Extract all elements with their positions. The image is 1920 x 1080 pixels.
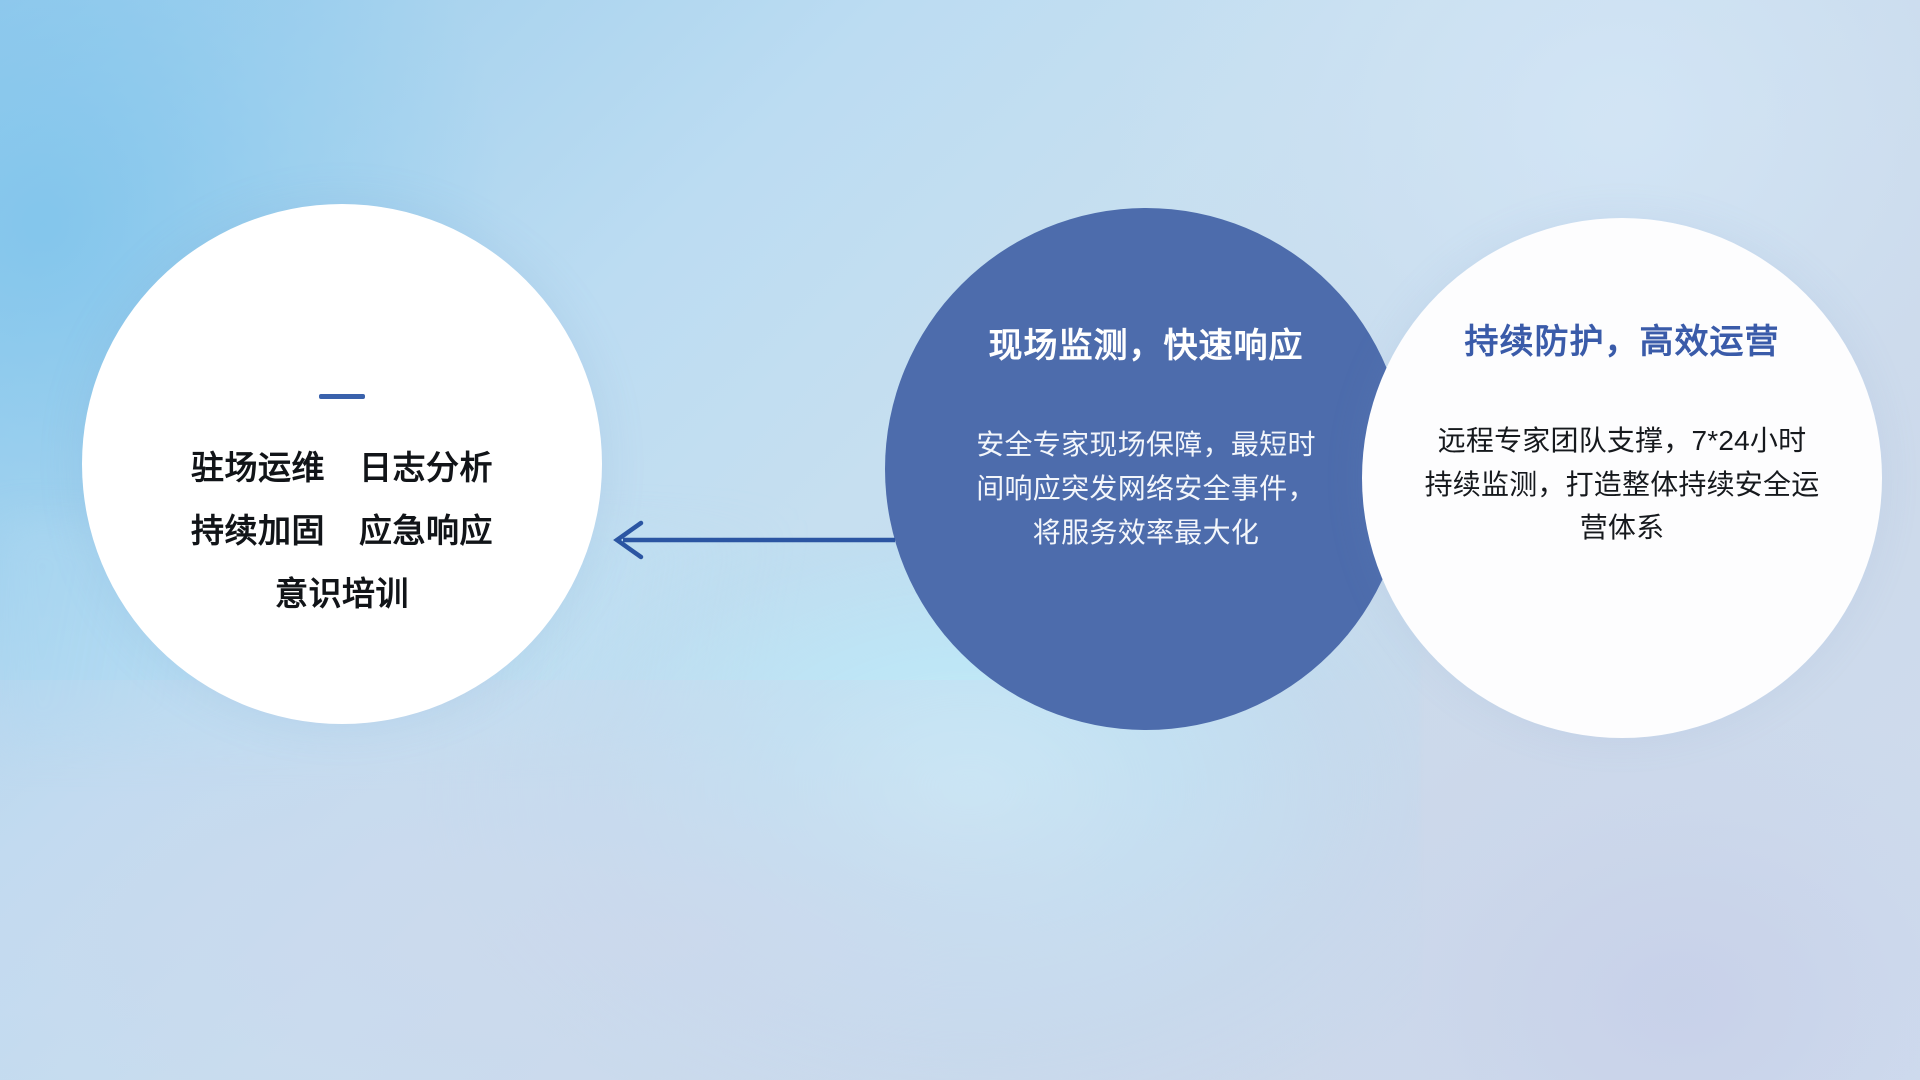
capability-keyword-row: 驻场运维 日志分析 (191, 451, 493, 484)
capability-keyword: 日志分析 (359, 451, 493, 484)
capability-keyword-row: 持续加固 应急响应 (191, 514, 493, 547)
onsite-monitoring-title: 现场监测，快速响应 (989, 318, 1304, 367)
divider-dash (319, 394, 365, 399)
capability-keyword: 意识培训 (275, 577, 409, 610)
capability-keyword-list: 驻场运维 日志分析 持续加固 应急响应 意识培训 (191, 451, 493, 610)
continuous-protection-circle: 持续防护，高效运营 远程专家团队支撑，7*24小时持续监测，打造整体持续安全运营… (1362, 218, 1882, 738)
continuous-protection-description: 远程专家团队支撑，7*24小时持续监测，打造整体持续安全运营体系 (1424, 419, 1820, 550)
background-glow-bottom-right (1320, 720, 1920, 1080)
continuous-protection-title: 持续防护，高效运营 (1465, 314, 1780, 363)
onsite-monitoring-description: 安全专家现场保障，最短时间响应突发网络安全事件，将服务效率最大化 (976, 423, 1316, 556)
arrow-left-icon (595, 495, 895, 585)
capabilities-circle: 驻场运维 日志分析 持续加固 应急响应 意识培训 (82, 204, 602, 724)
capability-keyword: 持续加固 (191, 514, 325, 547)
onsite-monitoring-circle: 现场监测，快速响应 安全专家现场保障，最短时间响应突发网络安全事件，将服务效率最… (885, 208, 1407, 730)
capability-keyword: 应急响应 (359, 514, 493, 547)
capability-keyword: 驻场运维 (191, 451, 325, 484)
capability-keyword-row: 意识培训 (191, 577, 493, 610)
